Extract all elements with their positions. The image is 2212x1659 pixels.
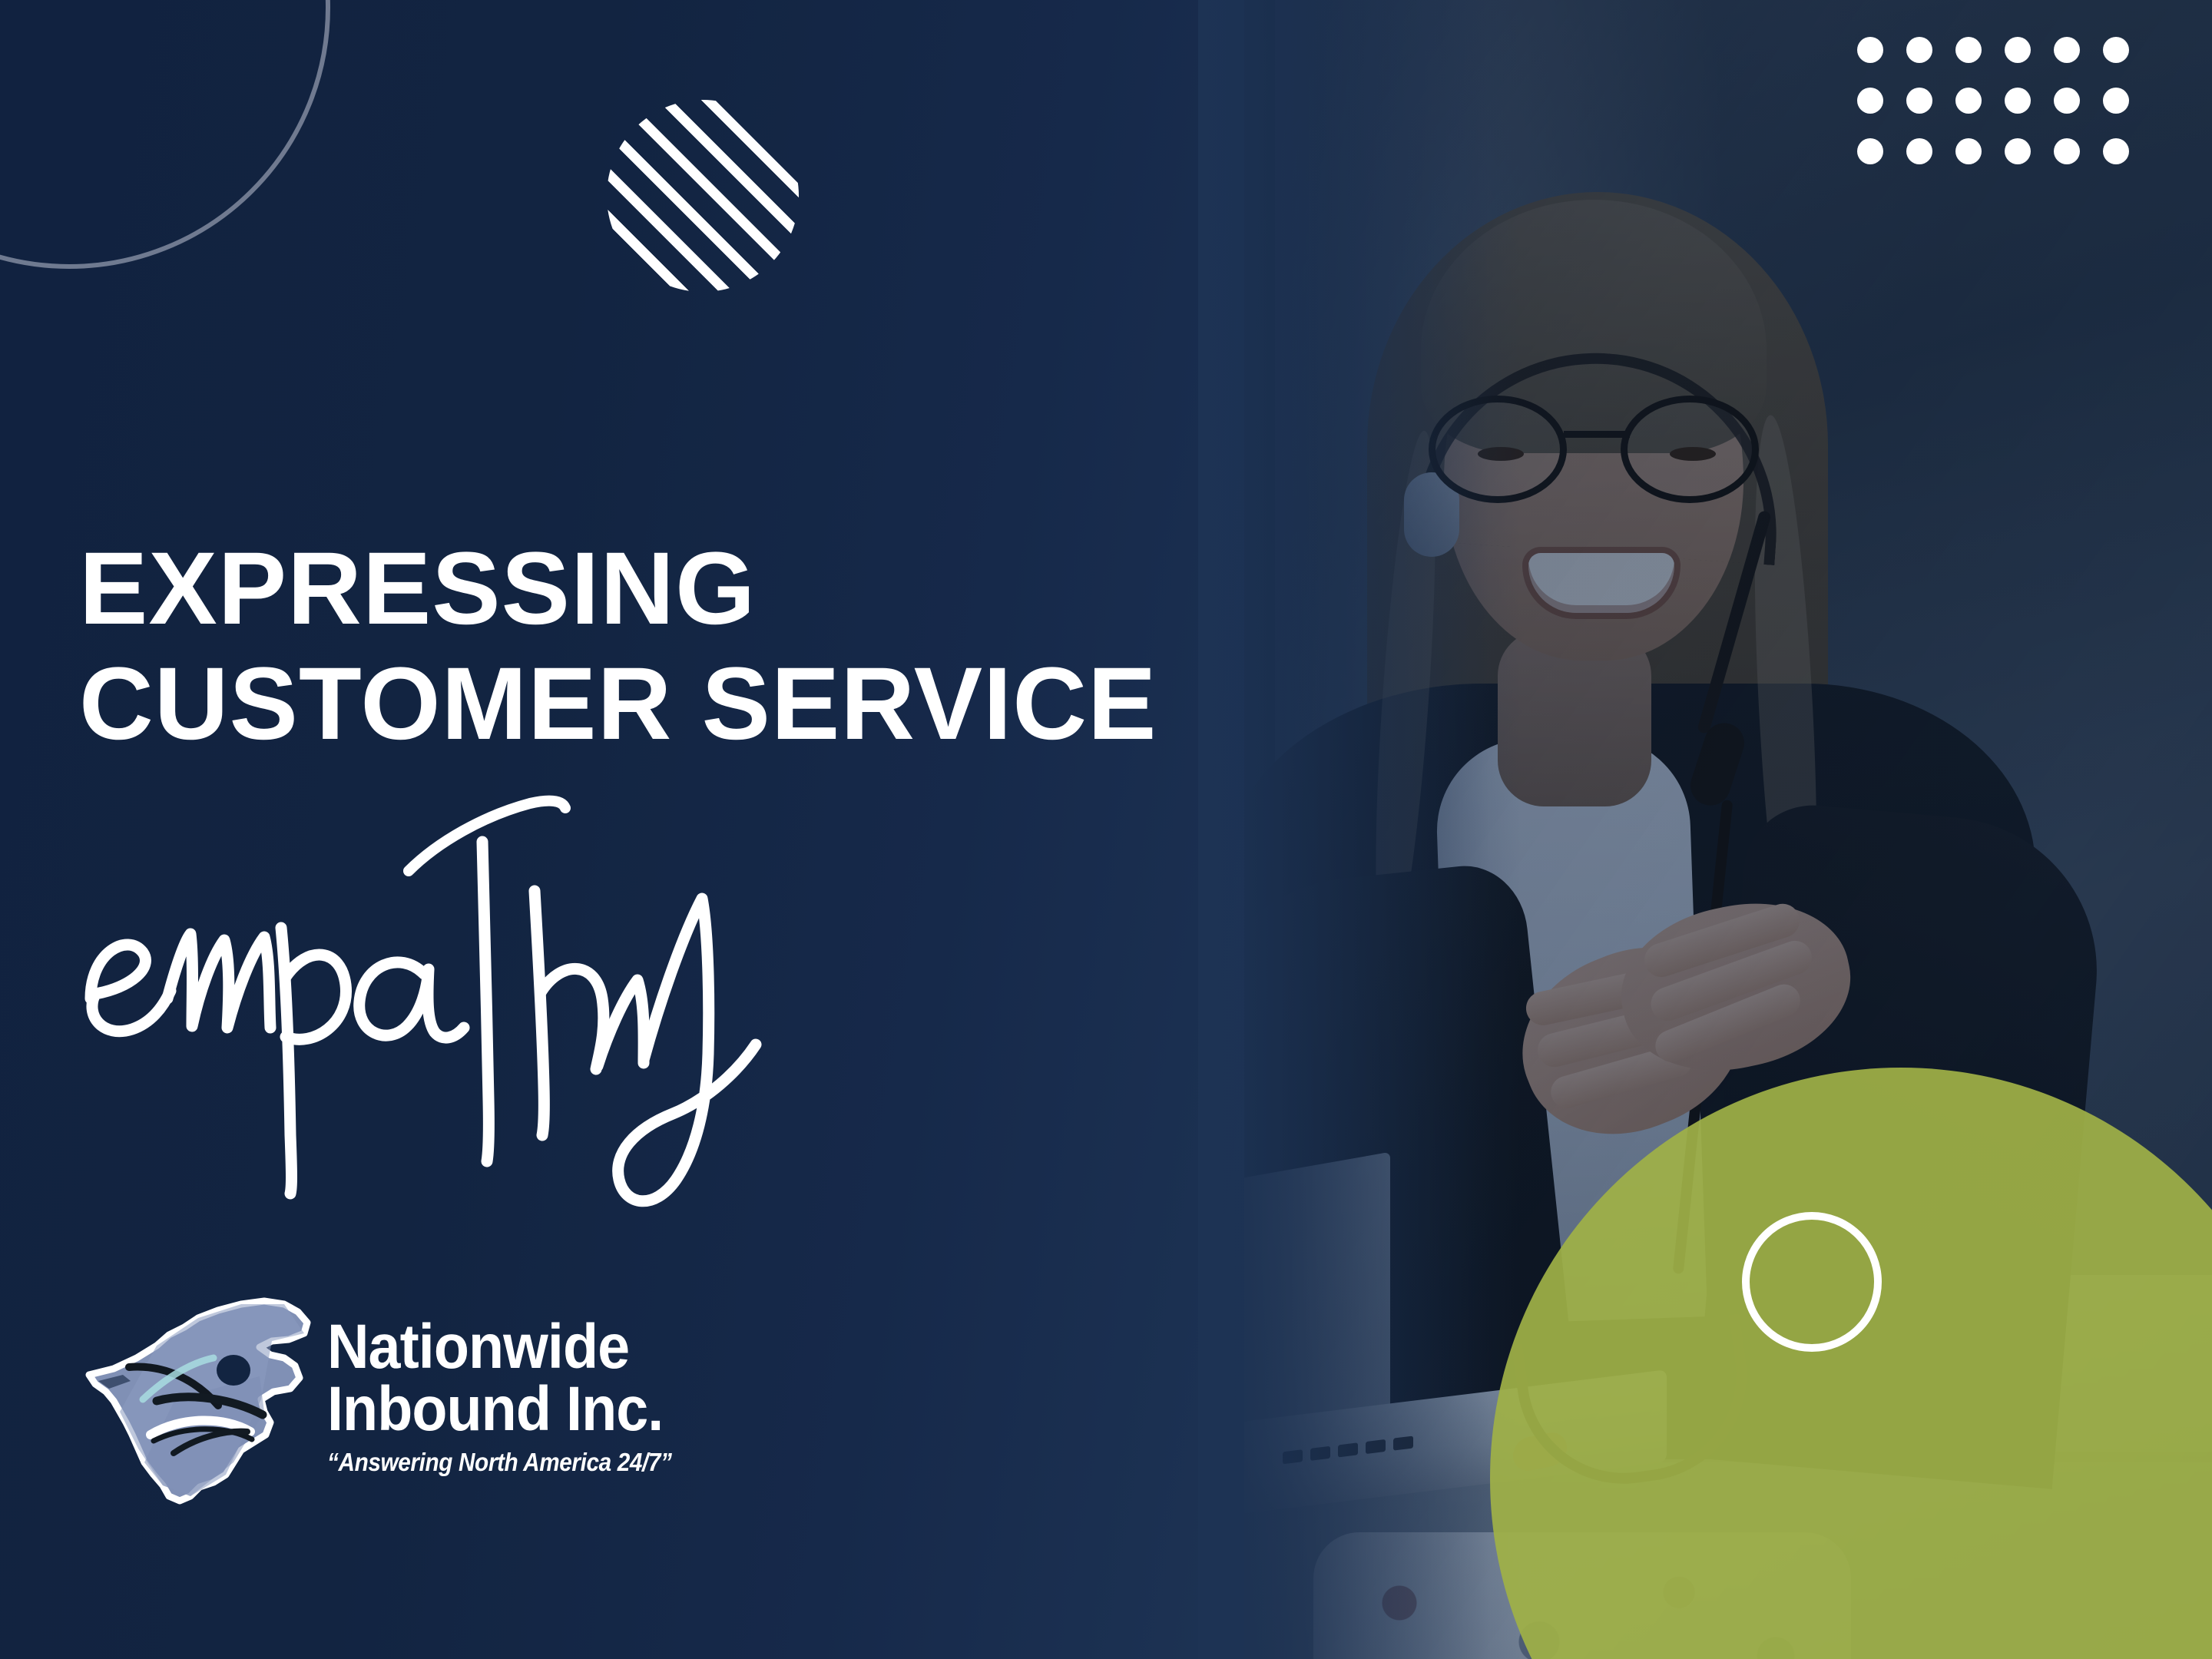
diagonal-stripes bbox=[607, 100, 799, 292]
grid-dot bbox=[1857, 37, 1883, 63]
grid-dot bbox=[1955, 88, 1982, 114]
company-logo[interactable]: Nationwide Inbound Inc. “Answering North… bbox=[83, 1284, 710, 1507]
grid-dot bbox=[1955, 138, 1982, 164]
grid-dot bbox=[2103, 88, 2129, 114]
grid-dot bbox=[2005, 138, 2031, 164]
grid-dot bbox=[2103, 37, 2129, 63]
grid-dot bbox=[1955, 37, 1982, 63]
dot-grid-icon bbox=[1857, 37, 2152, 189]
grid-dot bbox=[1906, 37, 1932, 63]
logo-tagline: “Answering North America 24/7” bbox=[327, 1448, 672, 1477]
logo-text-block: Nationwide Inbound Inc. “Answering North… bbox=[327, 1314, 710, 1476]
grid-dot bbox=[1857, 88, 1883, 114]
logo-name-line-1: Nationwide bbox=[327, 1317, 680, 1378]
grid-dot bbox=[2054, 37, 2080, 63]
white-ring-icon bbox=[1742, 1212, 1882, 1352]
headline-line-2: CUSTOMER SERVICE bbox=[79, 653, 1385, 756]
grid-dot bbox=[2005, 37, 2031, 63]
grid-dot bbox=[1906, 88, 1932, 114]
headline-block: EXPRESSING CUSTOMER SERVICE bbox=[79, 538, 1385, 756]
grid-dot bbox=[2103, 138, 2129, 164]
north-america-map-icon bbox=[83, 1284, 313, 1507]
grid-dot bbox=[1857, 138, 1883, 164]
logo-name-line-2: Inbound Inc. bbox=[327, 1379, 680, 1440]
grid-dot bbox=[2054, 138, 2080, 164]
headline-line-1: EXPRESSING bbox=[79, 538, 1385, 641]
grid-dot bbox=[2005, 88, 2031, 114]
grid-dot bbox=[2054, 88, 2080, 114]
script-word-empathy bbox=[77, 768, 998, 1198]
poster-canvas: EXPRESSING CUSTOMER SERVICE bbox=[0, 0, 2212, 1659]
striped-circle-icon bbox=[607, 100, 799, 292]
grid-dot bbox=[1906, 138, 1932, 164]
